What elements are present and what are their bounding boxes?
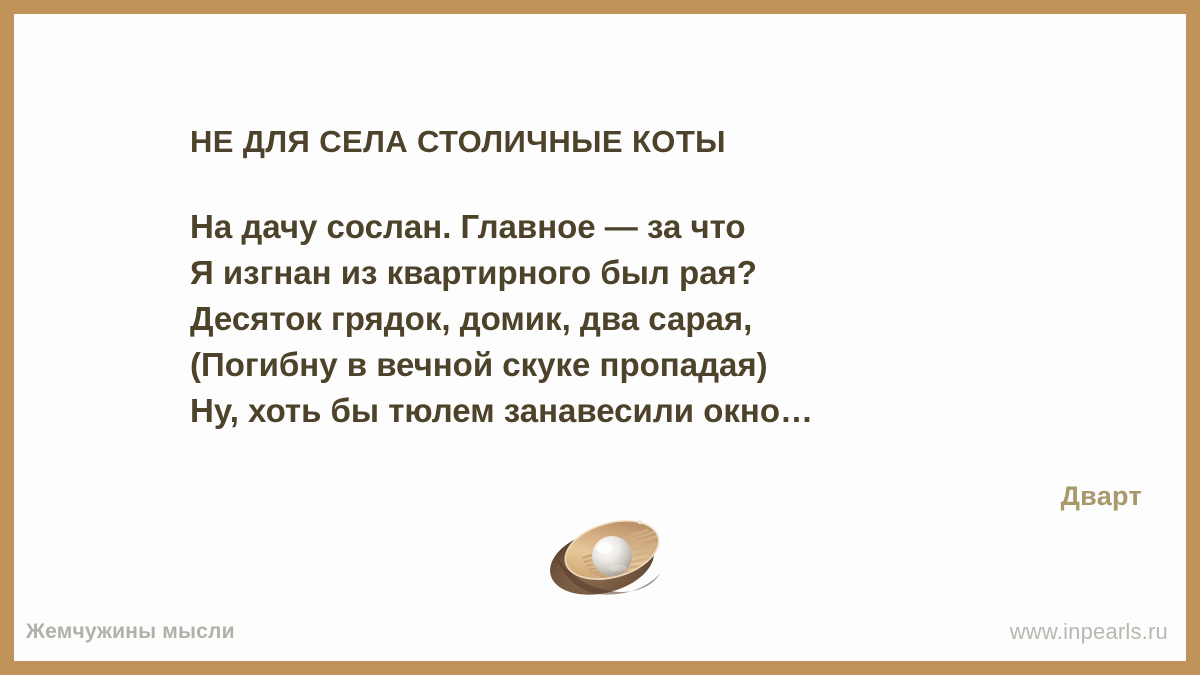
poem-line: Десяток грядок, домик, два сарая, xyxy=(190,296,1090,342)
poem-line: Ну, хоть бы тюлем занавесили окно… xyxy=(190,388,1090,434)
poem-block: НЕ ДЛЯ СЕЛА СТОЛИЧНЫЕ КОТЫ На дачу сосла… xyxy=(190,122,1090,434)
content-card: НЕ ДЛЯ СЕЛА СТОЛИЧНЫЕ КОТЫ На дачу сосла… xyxy=(14,14,1186,661)
poem-author: Дварт xyxy=(1061,481,1142,512)
site-name: Жемчужины мысли xyxy=(26,620,235,644)
poem-body: На дачу сослан. Главное — за что Я изгна… xyxy=(190,204,1090,434)
poem-line: Я изгнан из квартирного был рая? xyxy=(190,250,1090,296)
poem-line: На дачу сослан. Главное — за что xyxy=(190,204,1090,250)
site-url[interactable]: www.inpearls.ru xyxy=(1010,619,1168,645)
oyster-shell-with-pearl-icon xyxy=(540,512,680,604)
footer: Жемчужины мысли www.inpearls.ru xyxy=(14,603,1186,661)
page-title: НЕ ДЛЯ СЕЛА СТОЛИЧНЫЕ КОТЫ xyxy=(190,122,1090,162)
poem-line: (Погибну в вечной скуке пропадая) xyxy=(190,342,1090,388)
